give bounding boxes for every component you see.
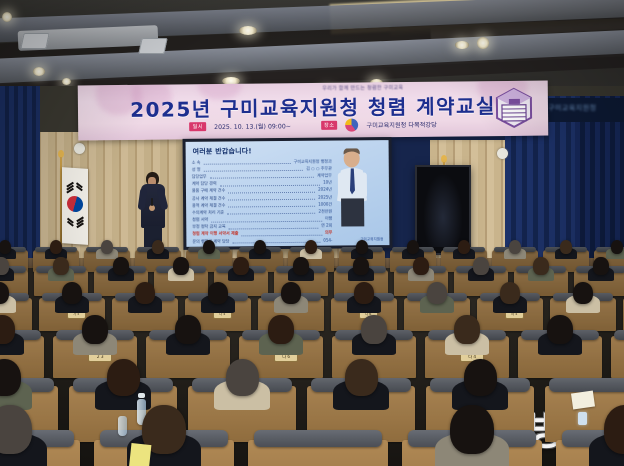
slide-row-label: 청렴 서약 xyxy=(192,217,208,223)
attendee-head xyxy=(254,240,267,254)
slide-row-label: 용역 계약 체결 건수 xyxy=(192,202,225,208)
attendee-head xyxy=(458,240,471,254)
ceiling-downlight xyxy=(455,41,469,49)
attendee-head xyxy=(509,240,522,254)
attendee-head xyxy=(293,257,309,275)
attendee-head xyxy=(450,405,494,454)
taeguk-symbol xyxy=(65,194,86,214)
slide-row-label: 공사 계약 체결 건수 xyxy=(192,195,225,201)
banner-date-value: 2025. 10. 13.(월) 09:00~ xyxy=(214,121,291,131)
slide-row-dots xyxy=(210,173,315,179)
banner-date-chip: 일시 xyxy=(190,122,207,131)
attendee-head xyxy=(268,315,294,344)
attendee-head xyxy=(500,282,520,304)
attendee-head xyxy=(107,359,140,396)
slide-row-label: 성 명 xyxy=(192,167,201,173)
attendee-head xyxy=(82,315,108,344)
slide-row-value: 054- xyxy=(323,238,332,243)
attendee-head xyxy=(361,315,387,344)
projection-screen: 여러분 반갑습니다! 소 속구미교육지원청 행정과성 명김 ○ ○ 주무관담당업… xyxy=(183,137,393,250)
air-vent-icon xyxy=(20,33,49,49)
attendee-head xyxy=(473,257,489,275)
slide-row-label: 물품 구매 계약 건수 xyxy=(192,188,225,194)
slide-row-dots xyxy=(228,195,315,201)
slide-row-label: 부정 청탁 금지 교육 xyxy=(192,224,225,230)
stage-curtain-left xyxy=(0,86,40,266)
attendee-head xyxy=(573,282,593,304)
attendee-head xyxy=(413,257,429,275)
ballot-box-emblem-icon xyxy=(494,87,534,129)
slide-row-label: 청렴 계약 이행 서약서 제출 xyxy=(192,231,238,237)
attendee-head xyxy=(454,315,480,344)
audience-section: 가 5나 4다 6라 41 52 3나 6다 4 xyxy=(0,244,624,466)
slide-content-rows: 소 속구미교육지원청 행정과성 명김 ○ ○ 주무관담당업무계약업무계약 담당 … xyxy=(192,158,333,245)
attendee-head xyxy=(101,240,114,254)
wall-speaker xyxy=(497,148,508,159)
attendee-head xyxy=(173,257,189,275)
attendee-head xyxy=(281,282,301,304)
attendee-head xyxy=(356,240,369,254)
slide-row-dots xyxy=(211,216,322,222)
water-bottle xyxy=(118,416,127,436)
banner-place-value: 구미교육지원청 다목적강당 xyxy=(366,120,436,130)
ceiling-downlight xyxy=(239,26,257,35)
attendee-head xyxy=(233,257,249,275)
attendee-head xyxy=(353,257,369,275)
handout-paper xyxy=(571,391,595,410)
slide-row-label: 수의계약 처리 기준 xyxy=(192,209,224,215)
signboard-text: 구미교육지원청 xyxy=(548,103,618,113)
attendee-head xyxy=(175,315,201,344)
attendee-head xyxy=(226,359,259,396)
slide-row-dots xyxy=(228,202,315,208)
attendee-head xyxy=(203,240,216,254)
attendee-head xyxy=(113,257,129,275)
attendee-head xyxy=(305,240,318,254)
attendee-head xyxy=(53,257,69,275)
slide-row-value: 구미교육지원청 행정과 xyxy=(294,158,332,164)
slide-heading: 여러분 반갑습니다! xyxy=(193,146,252,157)
attendee-head xyxy=(152,240,165,254)
attendee-head xyxy=(345,359,378,396)
slide-row-label: 담당업무 xyxy=(192,174,207,180)
attendee-head xyxy=(547,315,573,344)
attendee-head xyxy=(611,240,624,254)
air-vent-icon xyxy=(138,38,167,54)
slide-row-dots xyxy=(203,159,290,165)
attendee-head xyxy=(560,240,573,254)
slide-row-value: 의무 xyxy=(325,230,332,236)
attendee-head xyxy=(208,282,228,304)
attendee-head xyxy=(135,282,155,304)
auditorium-seat xyxy=(248,440,388,466)
ceiling-downlight xyxy=(33,67,45,76)
attendee-head xyxy=(0,257,9,275)
slide-person-photo xyxy=(329,148,376,228)
banner-place-chip: 장소 xyxy=(321,121,338,130)
slide-row-label: 소 속 xyxy=(192,159,201,165)
flag-cloth xyxy=(62,167,88,245)
office-logo-icon xyxy=(345,119,358,132)
attendee-head xyxy=(50,240,63,254)
attendee-head xyxy=(62,282,82,304)
attendee-head xyxy=(427,282,447,304)
ceiling-downlight xyxy=(62,78,71,85)
slide-row-label: 계약 담당 경력 xyxy=(192,181,217,187)
slide-row-dots xyxy=(227,209,315,215)
attendee-head xyxy=(407,240,420,254)
slide-row-dots xyxy=(220,180,321,186)
attendee-head xyxy=(533,257,549,275)
bottle-cap xyxy=(138,393,145,398)
ceiling-downlight xyxy=(2,12,12,22)
auditorium-seat xyxy=(611,336,624,378)
photo-auditorium-scene: 구미교육지원청 우리가 함께 만드는 청렴한 구미교육 2025년 구미교육지원… xyxy=(0,0,624,466)
attendee-head xyxy=(593,257,609,275)
smartphone xyxy=(578,412,587,425)
slide-row-dots xyxy=(228,188,315,194)
event-banner: 우리가 함께 만드는 청렴한 구미교육 2025년 구미교육지원청 청렴 계약교… xyxy=(78,81,549,141)
attendee-head xyxy=(464,359,497,396)
presenter-speaker xyxy=(140,172,166,250)
attendee-head xyxy=(354,282,374,304)
ceiling-downlight xyxy=(477,37,489,49)
slide-row-dots xyxy=(203,166,303,172)
attendee-head xyxy=(0,240,11,254)
slide-row-dots xyxy=(241,231,322,237)
handout-paper xyxy=(129,443,152,466)
slide-row-dots xyxy=(229,224,319,230)
